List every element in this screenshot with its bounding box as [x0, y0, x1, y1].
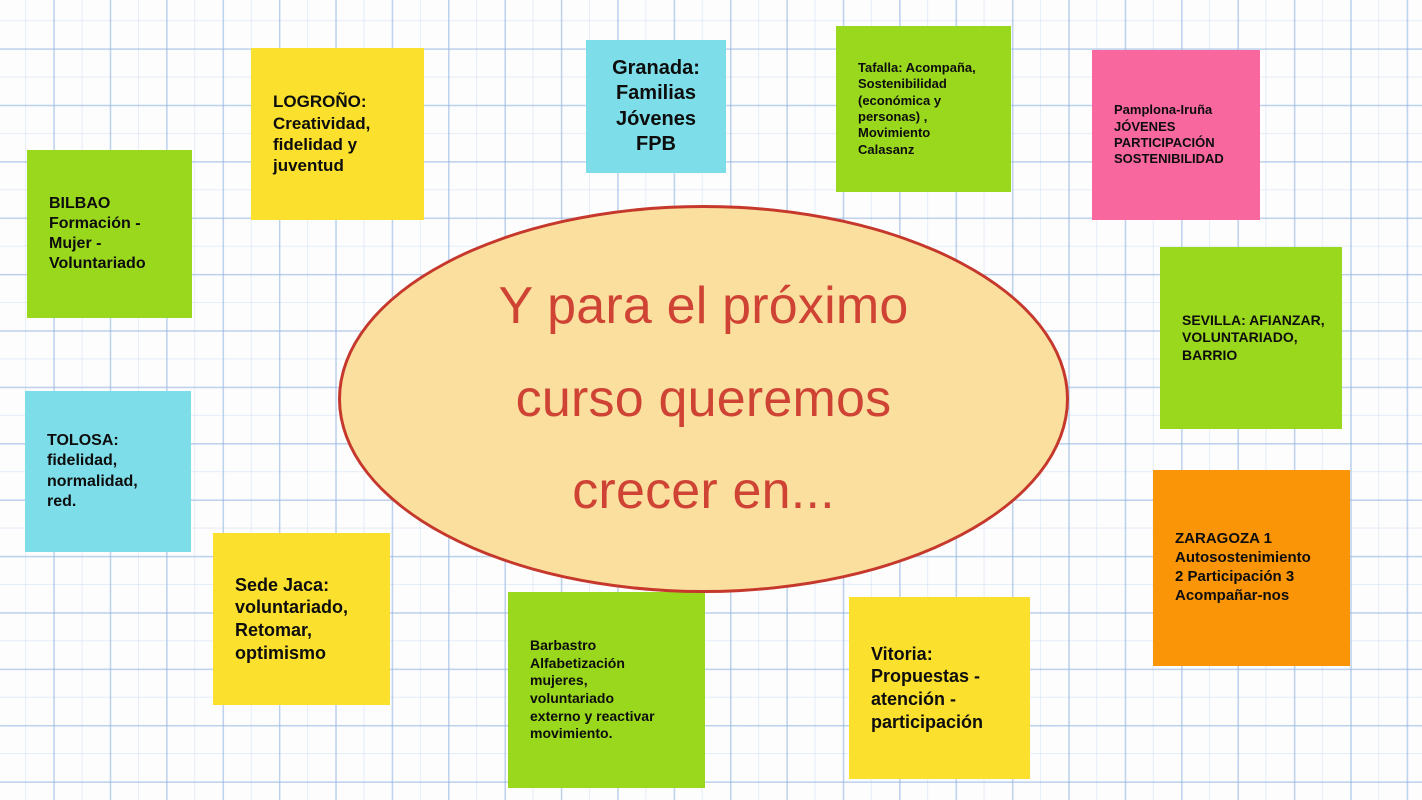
sticky-note-granada[interactable]: Granada: Familias Jóvenes FPB — [586, 40, 726, 173]
sticky-note-text: BILBAO Formación - Mujer - Voluntariado — [49, 194, 182, 275]
central-ellipse-text: Y para el próximo curso queremos crecer … — [459, 260, 949, 538]
sticky-note-vitoria[interactable]: Vitoria: Propuestas - atención - partici… — [849, 597, 1030, 779]
sticky-note-tafalla[interactable]: Tafalla: Acompaña, Sostenibilidad (econó… — [836, 26, 1011, 192]
central-ellipse[interactable]: Y para el próximo curso queremos crecer … — [338, 205, 1069, 593]
sticky-note-text: LOGROÑO: Creatividad, fidelidad y juvent… — [273, 91, 414, 177]
sticky-note-text: Sede Jaca: voluntariado, Retomar, optimi… — [235, 574, 380, 665]
sticky-note-text: Pamplona-Iruña JÓVENES PARTICIPACIÓN SOS… — [1114, 102, 1250, 168]
sticky-note-sede-jaca[interactable]: Sede Jaca: voluntariado, Retomar, optimi… — [213, 533, 390, 705]
mindmap-canvas: BILBAO Formación - Mujer - Voluntariado … — [0, 0, 1422, 800]
sticky-note-bilbao[interactable]: BILBAO Formación - Mujer - Voluntariado — [27, 150, 192, 318]
sticky-note-pamplona-iruna[interactable]: Pamplona-Iruña JÓVENES PARTICIPACIÓN SOS… — [1092, 50, 1260, 220]
sticky-note-text: Barbastro Alfabetización mujeres, volunt… — [530, 637, 695, 743]
sticky-note-sevilla[interactable]: SEVILLA: AFIANZAR, VOLUNTARIADO, BARRIO — [1160, 247, 1342, 429]
sticky-note-zaragoza[interactable]: ZARAGOZA 1 Autosostenimiento 2 Participa… — [1153, 470, 1350, 666]
sticky-note-text: ZARAGOZA 1 Autosostenimiento 2 Participa… — [1175, 530, 1340, 606]
sticky-note-text: SEVILLA: AFIANZAR, VOLUNTARIADO, BARRIO — [1182, 312, 1332, 365]
sticky-note-barbastro[interactable]: Barbastro Alfabetización mujeres, volunt… — [508, 592, 705, 788]
sticky-note-tolosa[interactable]: TOLOSA: fidelidad, normalidad, red. — [25, 391, 191, 552]
sticky-note-text: Tafalla: Acompaña, Sostenibilidad (econó… — [858, 60, 1001, 158]
sticky-note-text: Granada: Familias Jóvenes FPB — [594, 56, 718, 157]
sticky-note-text: TOLOSA: fidelidad, normalidad, red. — [47, 431, 181, 512]
sticky-note-logrono[interactable]: LOGROÑO: Creatividad, fidelidad y juvent… — [251, 48, 424, 220]
sticky-note-text: Vitoria: Propuestas - atención - partici… — [871, 643, 1020, 734]
